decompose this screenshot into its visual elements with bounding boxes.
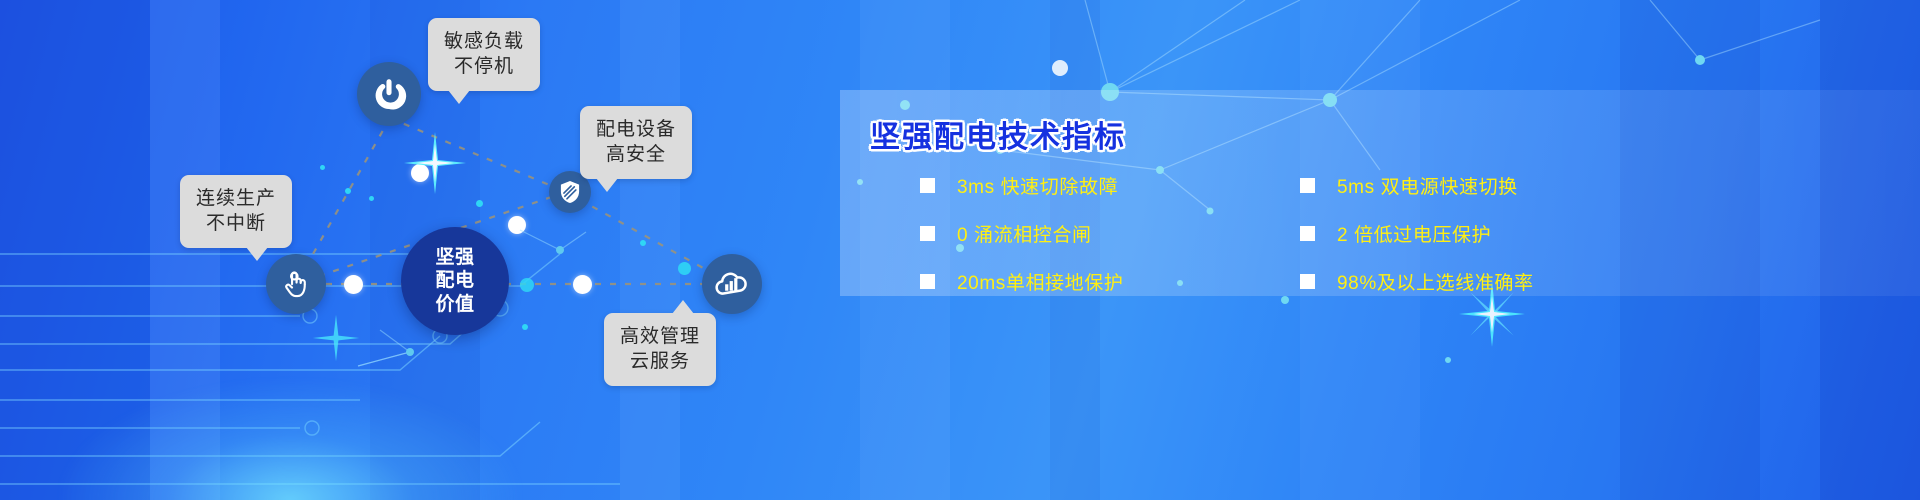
spec-item: 2 倍低过电压保护 [1300, 220, 1680, 247]
spec-item: 20ms单相接地保护 [920, 268, 1300, 295]
spec-text: 3ms 快速切除故障 [957, 172, 1118, 199]
spec-list: 3ms 快速切除故障 5ms 双电源快速切换 0 涌流相控合闸 2 倍低过电压保… [920, 172, 1920, 295]
bullet-square-icon [920, 274, 935, 289]
spec-text: 98%及以上选线准确率 [1337, 268, 1534, 295]
bullet-square-icon [920, 226, 935, 241]
diagram-accent-net [0, 0, 840, 500]
bullet-square-icon [1300, 226, 1315, 241]
spec-item: 0 涌流相控合闸 [920, 220, 1300, 247]
panel-title: 坚强配电技术指标 [870, 112, 1126, 156]
spec-text: 20ms单相接地保护 [957, 268, 1123, 295]
spec-text: 5ms 双电源快速切换 [1337, 172, 1518, 199]
value-diagram: 敏感负载 不停机 配电设备 高安全 [0, 0, 840, 500]
spec-item: 5ms 双电源快速切换 [1300, 172, 1680, 199]
promo-banner: 敏感负载 不停机 配电设备 高安全 [0, 0, 1920, 500]
bullet-square-icon [1300, 178, 1315, 193]
spec-item: 98%及以上选线准确率 [1300, 268, 1680, 295]
spec-text: 0 涌流相控合闸 [957, 220, 1092, 247]
spec-item: 3ms 快速切除故障 [920, 172, 1300, 199]
spec-text: 2 倍低过电压保护 [1337, 220, 1491, 247]
tech-spec-panel: 坚强配电技术指标 3ms 快速切除故障 5ms 双电源快速切换 0 涌流相控合闸… [840, 90, 1920, 296]
bullet-square-icon [1300, 274, 1315, 289]
bullet-square-icon [920, 178, 935, 193]
